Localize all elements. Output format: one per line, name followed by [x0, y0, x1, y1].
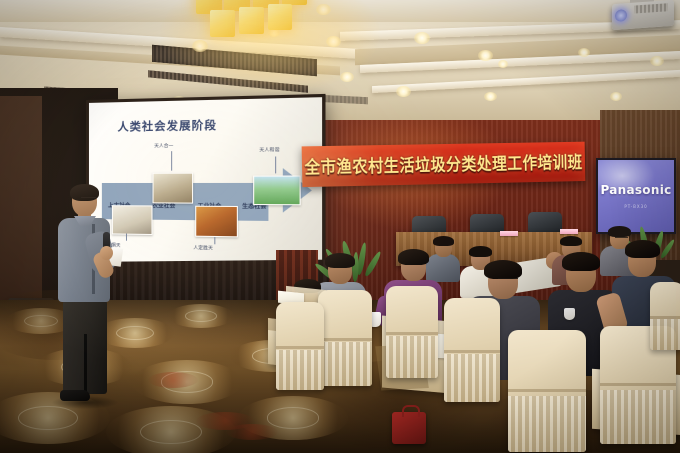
ceiling-projector [612, 0, 674, 30]
banquet-chair[interactable] [318, 290, 372, 386]
head-table-namecard [560, 229, 578, 234]
banquet-chair[interactable] [508, 330, 586, 452]
downlight [396, 86, 411, 97]
tea-cup [564, 308, 575, 320]
event-banner-text: 全市渔农村生活垃圾分类处理工作培训班 [304, 150, 582, 179]
slide-thumbnail-agriculture [152, 173, 193, 203]
side-screen-surface: Panasonic PT-BX30 [598, 160, 674, 232]
downlight [610, 92, 622, 101]
presenter-shoe [60, 390, 90, 401]
glasses-icon [81, 197, 96, 202]
banquet-chair[interactable] [276, 302, 324, 390]
downlight [578, 48, 590, 57]
slide-title: 人类社会发展阶段 [118, 117, 218, 135]
conference-room-photo: 人类社会发展阶段 上古社会 农业社会 工业社会 生态社会 人畏惧天 天人合一 人… [0, 0, 680, 453]
head-table-chair[interactable] [528, 212, 562, 234]
downlight [414, 32, 430, 44]
slide-callout-3: 天人和谐 [259, 147, 279, 154]
slide-thumbnail-ecology [253, 176, 301, 205]
side-projection-screen[interactable]: Panasonic PT-BX30 [596, 158, 676, 234]
slide-arrow-diagram: 上古社会 农业社会 工业社会 生态社会 人畏惧天 天人合一 人定胜天 天人和谐 [102, 167, 312, 243]
panasonic-model-text: PT-BX30 [624, 204, 647, 209]
downlight [484, 92, 497, 101]
presenter-leg-split [84, 334, 87, 394]
presenter-hand [100, 246, 113, 260]
chandelier-left [196, 0, 326, 38]
floor-bag [392, 412, 426, 444]
downlight [498, 60, 508, 68]
banquet-chair[interactable] [386, 286, 438, 378]
slide-callout-1: 天人合一 [154, 143, 173, 149]
slide-thumbnail-industry [195, 206, 237, 238]
banquet-chair[interactable] [650, 282, 680, 350]
downlight [478, 50, 493, 61]
panasonic-logo: Panasonic [600, 183, 671, 197]
projector-lens-icon [615, 9, 627, 22]
banquet-chair[interactable] [444, 298, 500, 402]
slide-callout-2: 人定胜天 [193, 245, 212, 252]
downlight [650, 56, 664, 66]
head-table-namecard [500, 231, 518, 236]
presenter-speaker [52, 186, 124, 408]
event-banner: 全市渔农村生活垃圾分类处理工作培训班 [302, 142, 586, 187]
